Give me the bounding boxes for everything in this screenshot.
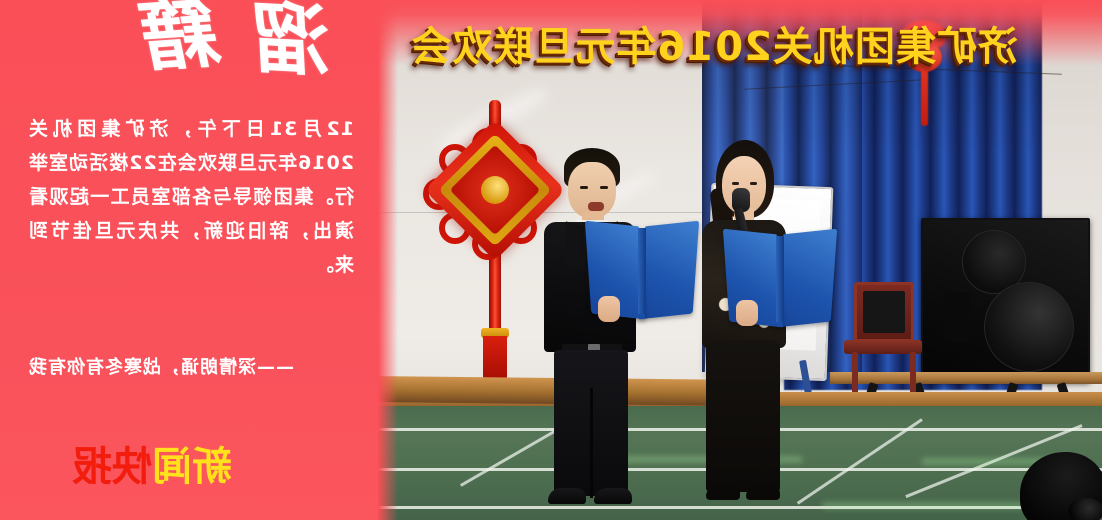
trouser-seam — [590, 388, 593, 498]
chair-back — [854, 282, 914, 342]
poster-body-text: 12月31日下午，济矿集团机关2016年元旦联欢会在22楼活动室举行。集团领导与… — [28, 112, 354, 282]
knot-gold-ornament — [481, 176, 509, 204]
performer-shoe — [706, 486, 740, 500]
folder-spine — [776, 236, 784, 322]
news-poster: 溜 籍 济矿集团机关2016年元旦联欢会 12月31日下午，济矿集团机关2016… — [0, 0, 1102, 520]
court-line-diagonal — [797, 418, 923, 504]
folder-page-left — [777, 229, 837, 328]
performer-mouth — [588, 202, 604, 211]
speaker-woofer — [984, 282, 1074, 372]
event-photo-content — [378, 0, 1102, 520]
news-badge: 新闻快报 — [72, 434, 232, 492]
performer-shoe — [746, 486, 780, 500]
poster-caption: ——深情朗诵，战寒冬有你有我 — [28, 352, 354, 384]
performer-hand — [736, 300, 758, 326]
news-badge-secondary: 快报 — [72, 444, 152, 490]
performer-eye — [600, 186, 608, 189]
wooden-chair — [844, 282, 924, 402]
event-photo — [378, 0, 1102, 520]
news-badge-primary: 新闻 — [152, 444, 232, 490]
poster-headline: 济矿集团机关2016年元旦联欢会 — [18, 14, 1018, 72]
performer-face — [568, 162, 616, 218]
lantern-tassel — [921, 68, 928, 126]
performer-hand — [598, 296, 620, 322]
text-panel: 溜 籍 济矿集团机关2016年元旦联欢会 12月31日下午，济矿集团机关2016… — [0, 0, 378, 520]
chair-back-panel — [863, 291, 905, 333]
performer-skirt — [706, 340, 780, 492]
knot-tassel — [483, 336, 507, 382]
performer-shoe — [548, 488, 586, 504]
performer-eye — [580, 186, 588, 189]
male-performer — [522, 148, 650, 512]
suit-lapel — [566, 221, 584, 270]
performer-shoe — [594, 488, 632, 504]
performer-eye — [732, 182, 739, 185]
folder-page-left — [639, 221, 699, 320]
pa-speaker — [921, 218, 1090, 382]
performer-eye — [750, 182, 757, 185]
speaker-port — [944, 292, 970, 342]
folder-spine — [638, 228, 646, 314]
foreground-lens — [1068, 498, 1102, 520]
